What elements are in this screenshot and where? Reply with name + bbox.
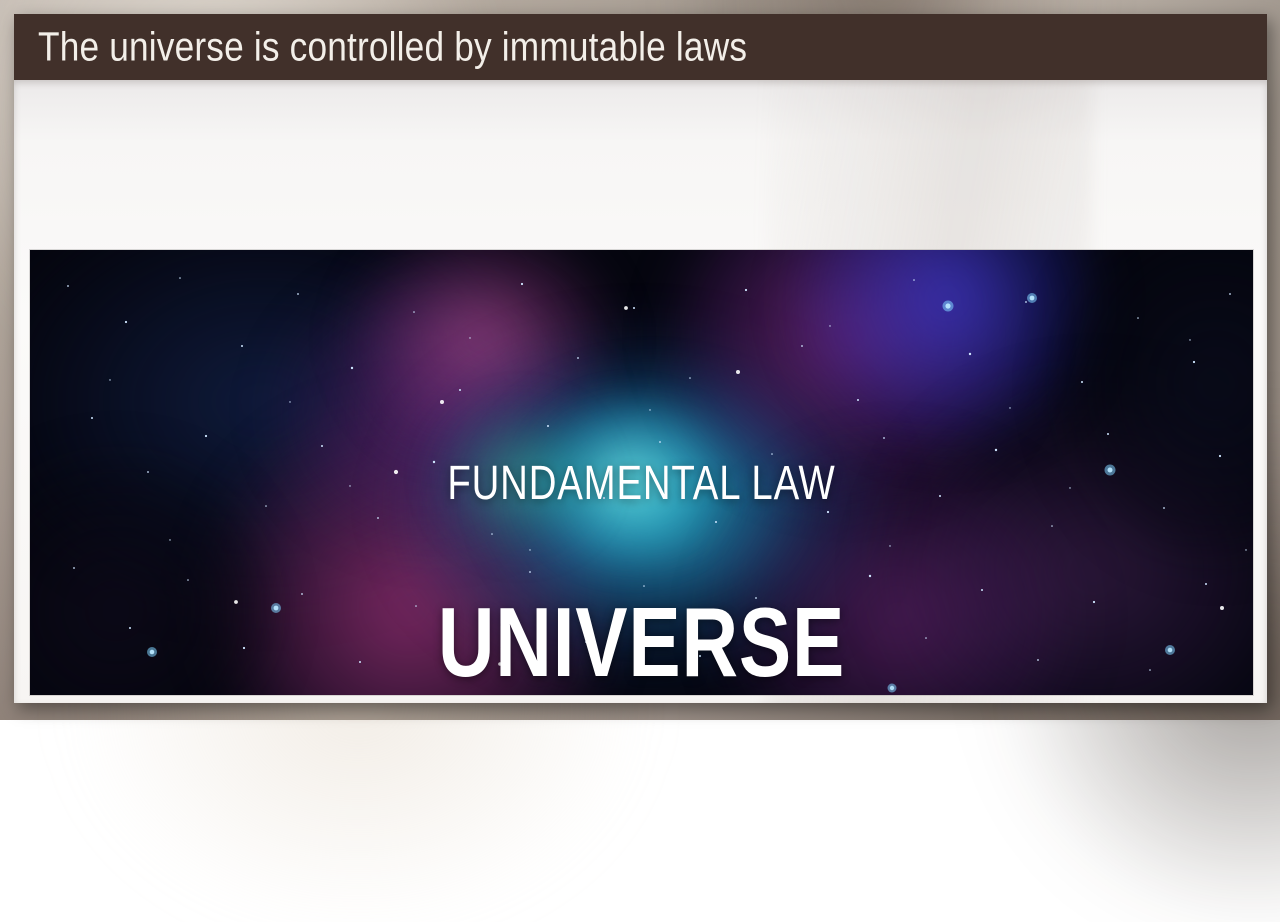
slide-title-bar: The universe is controlled by immutable … [14, 14, 1267, 80]
image-caption-large: UNIVERSE [152, 593, 1130, 691]
slide-body: FUNDAMENTAL LAW UNIVERSE [14, 80, 1267, 703]
image-caption-small: FUNDAMENTAL LAW [152, 456, 1130, 511]
slide-panel: The universe is controlled by immutable … [14, 14, 1267, 703]
space-nebula-image: FUNDAMENTAL LAW UNIVERSE [30, 250, 1253, 695]
slide-title: The universe is controlled by immutable … [38, 24, 747, 71]
